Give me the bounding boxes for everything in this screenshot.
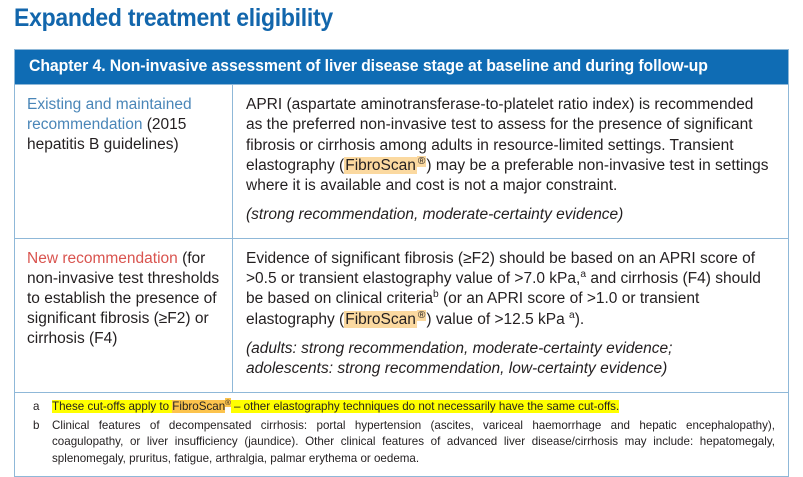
- footnote-b: b Clinical features of decompensated cir…: [28, 418, 775, 467]
- footnote-a-part1: These cut-offs apply to: [52, 400, 172, 413]
- fibroscan-highlight: FibroScan: [344, 157, 417, 174]
- chapter-header-text: Chapter 4. Non-invasive assessment of li…: [29, 57, 708, 76]
- registered-trademark-icon: ®: [417, 156, 427, 167]
- table-row: Existing and maintained recommendation (…: [15, 84, 788, 238]
- row-label-cell-existing: Existing and maintained recommendation (…: [15, 85, 233, 238]
- row-body-cell-existing: APRI (aspartate aminotransferase-to-plat…: [233, 85, 788, 238]
- page-title: Expanded treatment eligibility: [14, 4, 333, 33]
- footnotes-section: a These cut-offs apply to FibroScan® – o…: [15, 392, 788, 477]
- chapter-header-bar: Chapter 4. Non-invasive assessment of li…: [15, 50, 788, 84]
- fibroscan-highlight: FibroScan: [344, 311, 417, 328]
- row-body-cell-new: Evidence of significant fibrosis (≥F2) s…: [233, 239, 788, 392]
- evidence-grade-line-1: (adults: strong recommendation, moderate…: [246, 340, 672, 357]
- row-body-paragraph-new: Evidence of significant fibrosis (≥F2) s…: [246, 249, 774, 330]
- registered-trademark-icon: ®: [417, 310, 427, 321]
- footnote-a-marker: a: [28, 399, 52, 415]
- footnote-a-text: These cut-offs apply to FibroScan® – oth…: [52, 399, 775, 415]
- row-label-cell-new: New recommendation (for non-invasive tes…: [15, 239, 233, 392]
- footnote-b-text: Clinical features of decompensated cirrh…: [52, 418, 775, 467]
- registered-trademark-icon: ®: [225, 398, 231, 407]
- footnote-a: a These cut-offs apply to FibroScan® – o…: [28, 399, 775, 415]
- row-label-highlight-new: New recommendation: [27, 250, 178, 267]
- footnote-a-fibroscan-highlight: FibroScan: [172, 400, 225, 413]
- table-row: New recommendation (for non-invasive tes…: [15, 238, 788, 392]
- body-text-part5: ).: [575, 311, 584, 328]
- footnote-a-part2: – other elastography techniques do not n…: [231, 400, 619, 413]
- row-body-evidence-grade-new: (adults: strong recommendation, moderate…: [246, 339, 774, 380]
- footnote-b-marker: b: [28, 418, 52, 434]
- body-text-part4: ) value of >12.5 kPa: [426, 311, 569, 328]
- recommendation-table: Chapter 4. Non-invasive assessment of li…: [14, 49, 789, 477]
- row-body-paragraph-existing: APRI (aspartate aminotransferase-to-plat…: [246, 95, 774, 196]
- row-body-evidence-grade-existing: (strong recommendation, moderate-certain…: [246, 205, 774, 225]
- evidence-grade-line-2: adolescents: strong recommendation, low-…: [246, 360, 667, 377]
